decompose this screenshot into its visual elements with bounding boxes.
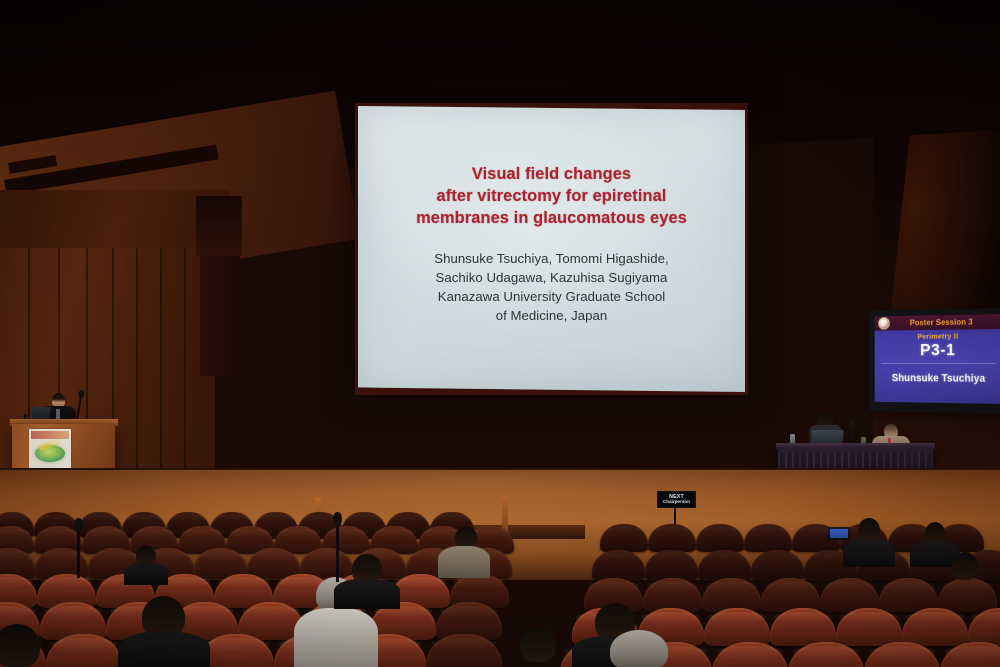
audience-shoulders <box>843 539 895 567</box>
audience-head <box>952 552 978 580</box>
aisle-microphone-stand <box>77 528 80 578</box>
slide-affiliation-line-2: of Medicine, Japan <box>374 306 729 325</box>
presenter-name: Shunsuke Tsuchiya <box>875 372 1000 385</box>
audience-head <box>520 626 556 662</box>
audience-shoulders <box>334 579 400 609</box>
audience-head <box>0 624 40 667</box>
poster-title-bar <box>31 431 69 439</box>
abstract-code: P3-1 <box>875 340 1000 360</box>
slide-author-line-2: Sachiko Udagawa, Kazuhisa Sugiyama <box>374 268 729 287</box>
audience-shoulders <box>124 563 168 585</box>
slide-authors: Shunsuke Tsuchiya, Tomomi Higashide, Sac… <box>374 249 729 325</box>
session-monitor-header: Poster Session 3 <box>875 314 1000 331</box>
next-chairperson-sign: NEXT Chairperson <box>657 491 696 508</box>
audience-shoulders <box>118 632 210 667</box>
aisle-microphone-stand <box>336 522 339 582</box>
audience-shoulders <box>294 608 378 667</box>
auditorium-photo: Visual field changes after vitrectomy fo… <box>0 0 1000 667</box>
session-monitor-screen: Poster Session 3 Perimetry II P3-1 Shuns… <box>875 314 1000 404</box>
projection-screen: Visual field changes after vitrectomy fo… <box>358 106 745 392</box>
session-monitor: Poster Session 3 Perimetry II P3-1 Shuns… <box>869 308 1000 414</box>
slide-title-line-3: membranes in glaucomatous eyes <box>374 208 729 230</box>
audience-shoulders <box>438 546 490 578</box>
monitor-footer-note <box>875 389 1000 391</box>
slide-affiliation-line-1: Kanazawa University Graduate School <box>374 287 729 306</box>
wall-alcove-lower <box>200 256 240 376</box>
aisle-monitor <box>828 527 850 540</box>
session-label: Poster Session 3 <box>890 317 1000 328</box>
slide-title-line-1: Visual field changes <box>374 164 729 186</box>
next-sign-line-2: Chairperson <box>663 500 690 504</box>
podium-conference-poster <box>29 429 71 469</box>
monitor-divider <box>882 363 996 364</box>
conference-logo-icon <box>878 317 890 330</box>
audience-head <box>610 630 668 667</box>
wall-alcove <box>196 196 242 256</box>
slide-content: Visual field changes after vitrectomy fo… <box>358 164 745 325</box>
slide-author-line-1: Shunsuke Tsuchiya, Tomomi Higashide, <box>374 249 729 268</box>
slide-title: Visual field changes after vitrectomy fo… <box>374 164 729 230</box>
audience-seating <box>0 508 1000 667</box>
slide-title-line-2: after vitrectomy for epiretinal <box>374 186 729 208</box>
